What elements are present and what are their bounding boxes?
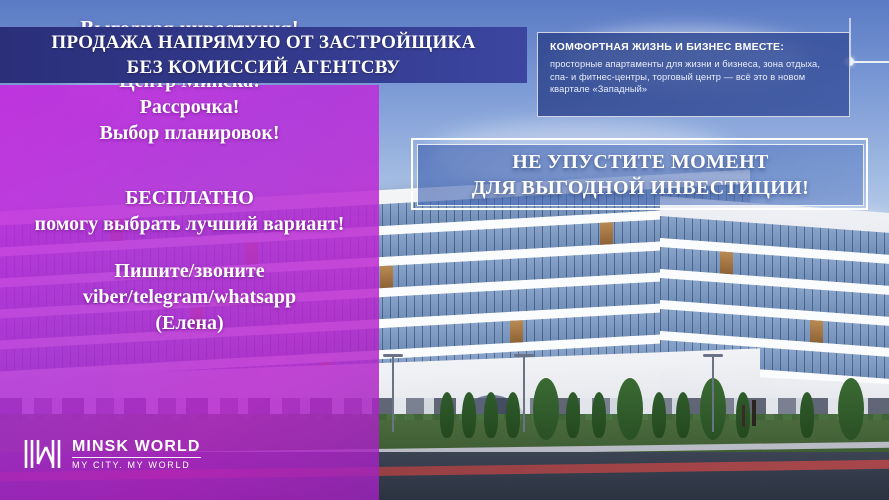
advertisement-slide: Выгодная инвестиция! Центр Минска! Расср… xyxy=(0,0,889,500)
header-banner: ПРОДАЖА НАПРЯМУЮ ОТ ЗАСТРОЙЩИКА БЕЗ КОМИ… xyxy=(0,27,527,83)
left-contact-block: Пишите/звоните viber/telegram/whatsapp (… xyxy=(0,258,379,336)
logo-name: MINSK WORLD xyxy=(72,439,201,458)
cyclist xyxy=(752,400,756,426)
callout-body: просторные апартаменты для жизни и бизне… xyxy=(550,58,837,96)
minsk-world-logo[interactable]: MINSK WORLD MY CITY. MY WORLD xyxy=(22,437,201,471)
promo-banner: НЕ УПУСТИТЕ МОМЕНТ ДЛЯ ВЫГОДНОЙ ИНВЕСТИЦ… xyxy=(411,138,868,210)
header-line-1: ПРОДАЖА НАПРЯМУЮ ОТ ЗАСТРОЙЩИКА xyxy=(51,30,475,55)
header-line-2: БЕЗ КОМИССИЙ АГЕНТСВУ xyxy=(127,55,401,80)
callout-box: КОМФОРТНАЯ ЖИЗНЬ И БИЗНЕС ВМЕСТЕ: просто… xyxy=(537,32,850,117)
left-free-help-block: БЕСПЛАТНО помогу выбрать лучший вариант! xyxy=(0,185,379,237)
promo-line-2: ДЛЯ ВЫГОДНОЙ ИНВЕСТИЦИИ! xyxy=(472,175,809,201)
pedestrian xyxy=(742,405,745,427)
connector-line xyxy=(849,61,889,63)
callout-title: КОМФОРТНАЯ ЖИЗНЬ И БИЗНЕС ВМЕСТЕ: xyxy=(550,41,837,53)
promo-banner-inner: НЕ УПУСТИТЕ МОМЕНТ ДЛЯ ВЫГОДНОЙ ИНВЕСТИЦ… xyxy=(417,144,864,206)
mw-monogram-icon xyxy=(22,437,64,471)
logo-tagline: MY CITY. MY WORLD xyxy=(72,458,201,470)
promo-line-1: НЕ УПУСТИТЕ МОМЕНТ xyxy=(512,149,769,175)
